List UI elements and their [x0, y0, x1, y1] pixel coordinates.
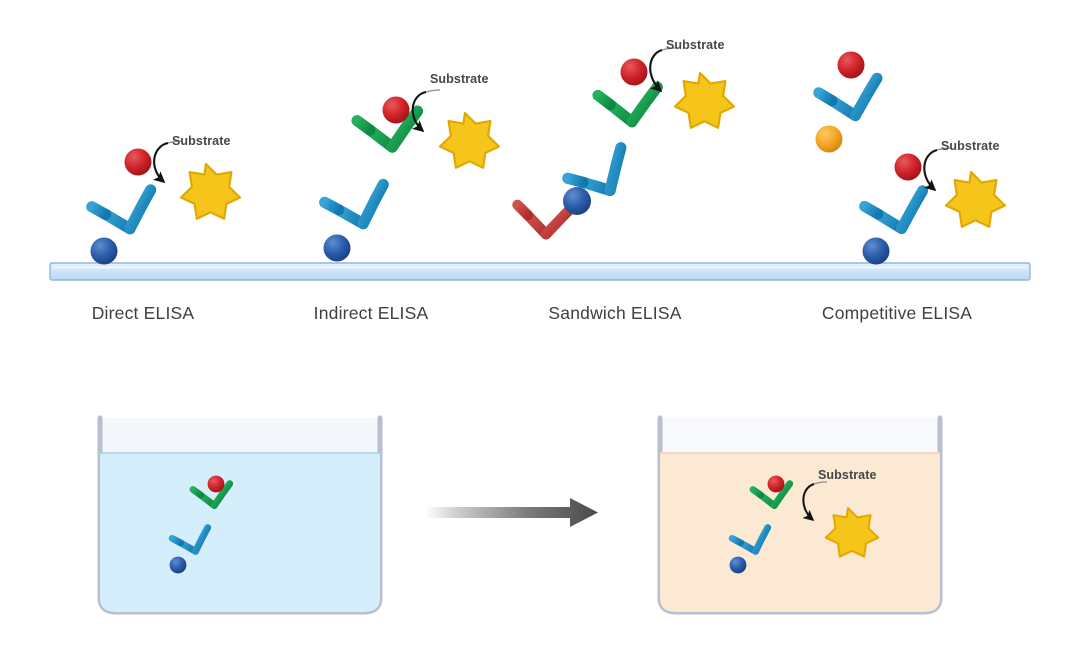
- assay-competitive-elisa: [816, 52, 1006, 266]
- substrate-arrow: [924, 148, 951, 190]
- assay-direct-elisa: [91, 141, 241, 267]
- enzyme-red: [768, 476, 785, 493]
- well-before-reaction: [98, 418, 382, 615]
- substrate-star-yellow: [181, 164, 240, 219]
- assay-label-competitive: Competitive ELISA: [754, 303, 1040, 324]
- enzyme-red: [208, 476, 225, 493]
- competitor-antigen-orange: [816, 126, 843, 153]
- enzyme-red: [383, 97, 410, 124]
- assay-label-sandwich: Sandwich ELISA: [472, 303, 758, 324]
- secondary-antibody-green: [598, 87, 666, 156]
- substrate-star-yellow: [946, 172, 1005, 227]
- microplate-surface: [50, 263, 1030, 280]
- substrate-label-direct: Substrate: [172, 134, 231, 148]
- substrate-label-indirect: Substrate: [430, 72, 489, 86]
- enzyme-red: [838, 52, 865, 79]
- substrate-label-sandwich: Substrate: [666, 38, 725, 52]
- enzyme-red: [895, 154, 922, 181]
- reaction-arrow: [425, 498, 598, 527]
- substrate-label-competitive: Substrate: [941, 139, 1000, 153]
- substrate-label-well: Substrate: [818, 468, 877, 482]
- antigen-blue: [863, 238, 890, 265]
- substrate-star-yellow: [675, 73, 734, 128]
- enzyme-red: [621, 59, 648, 86]
- antigen-blue: [730, 557, 747, 574]
- substrate-star-yellow: [440, 113, 499, 168]
- antigen-blue: [563, 187, 591, 215]
- well-after-reaction: [658, 418, 942, 615]
- enzyme-red: [125, 149, 152, 176]
- capture-antibody-red: [518, 205, 575, 263]
- antigen-blue: [91, 238, 118, 265]
- antigen-blue: [324, 235, 351, 262]
- assay-indirect-elisa: [324, 90, 500, 262]
- elisa-diagram-figure: Direct ELISA Indirect ELISA Sandwich ELI…: [0, 0, 1080, 645]
- antigen-blue: [170, 557, 187, 574]
- assay-sandwich-elisa: [518, 48, 735, 263]
